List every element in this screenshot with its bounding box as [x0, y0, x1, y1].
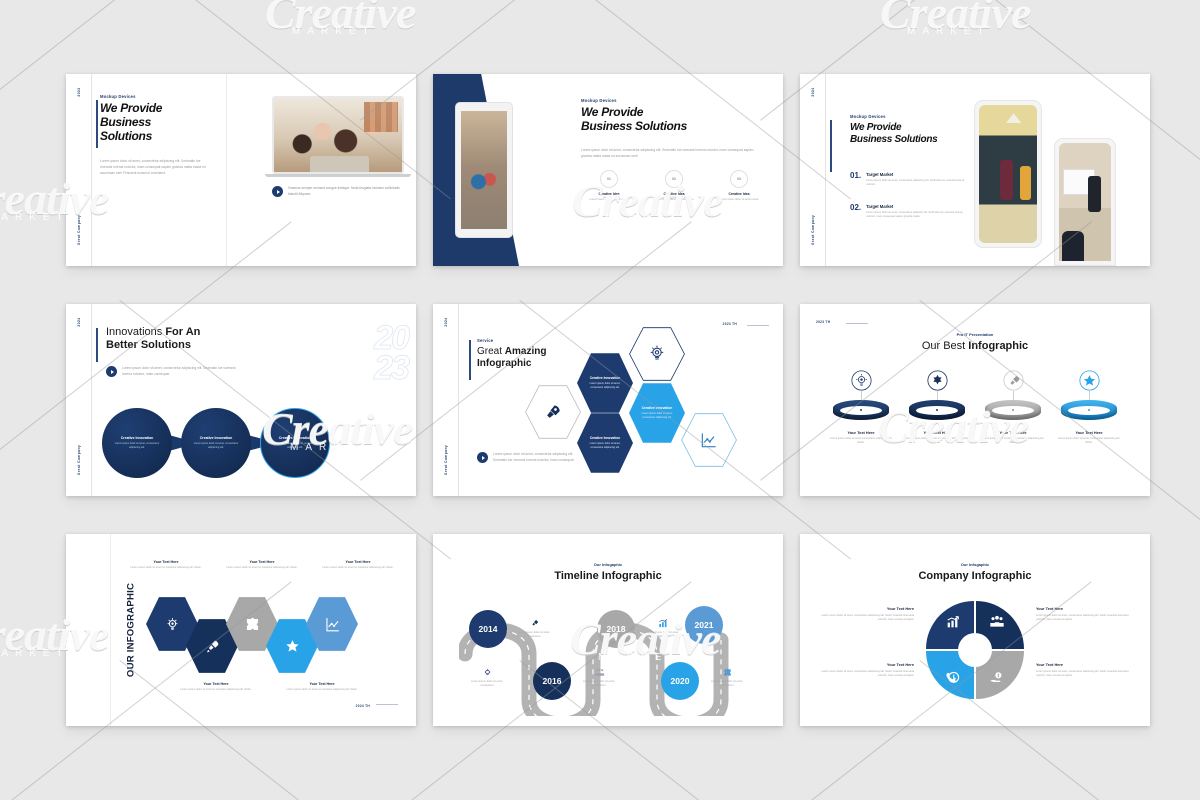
divider — [226, 74, 227, 266]
node-year: 2021 — [695, 620, 714, 630]
eyebrow: Mockup Devices — [581, 98, 617, 103]
caption-title: Your Text Here — [1036, 606, 1130, 611]
slide-2-steps: 01 Creative Idea Lorem ipsum dolor sit a… — [581, 170, 767, 202]
slide-2-body: Lorem ipsum dolor sit amet, consectetur … — [581, 148, 761, 160]
slide-3-rail: 2024 Great Company — [800, 74, 826, 266]
ring-item[interactable]: Your Text Here Lorem ipsum dolor sit ame… — [978, 370, 1048, 446]
circle-label: Creative Innovation — [121, 436, 153, 440]
step-number: 01 — [600, 170, 618, 188]
slide-thumbnail-1[interactable]: 2024 Great Company Mockup Devices We Pro… — [66, 74, 416, 266]
hex-text: Lorem ipsum dolor sit amet, consectetur … — [586, 382, 624, 390]
ring-shape — [985, 400, 1041, 420]
caption-text: Lorem ipsum dolor sit amet, consectetur … — [1036, 670, 1130, 679]
chart-icon — [323, 615, 342, 634]
caption-text: Lorem ipsum dolor sit amet, consectetur — [643, 631, 683, 640]
step-text: Lorem ipsum dolor sit amet conse — [581, 198, 637, 202]
slide-1-body: Lorem ipsum dolor sit amet, consectetur … — [100, 159, 210, 176]
circle-text: Lorem ipsum dolor sit amet, consectetur … — [268, 442, 322, 450]
timeline-node[interactable]: 2020 — [661, 662, 699, 700]
corner-line — [376, 704, 398, 705]
eyebrow: Our Infogaphic — [800, 562, 1150, 567]
title-line-3: Solutions — [100, 130, 220, 144]
slide-thumbnail-5[interactable]: 2024 Great Company 2023 TH Service Great… — [433, 304, 783, 496]
play-icon[interactable] — [477, 452, 488, 463]
rocket-icon — [203, 637, 222, 656]
caption-text: Lorem ipsum dolor sit amet co nsectetur … — [176, 688, 256, 692]
caption-title: Your Text Here — [320, 560, 396, 564]
circle-chain: Creative Innovation Lorem ipsum dolor si… — [100, 408, 390, 478]
caption-text: Lorem ipsum dolor sit amet, consectetur — [515, 631, 553, 640]
item-text: Lorem ipsum dolor sit amet, consectetur … — [866, 211, 968, 220]
people-icon — [594, 667, 605, 678]
hex-fill-bright[interactable]: Creative Innovation Lorem ipsum dolor si… — [629, 382, 685, 444]
circle-label: Creative Innovation — [279, 436, 311, 440]
ring-title: Your Text Here — [1054, 430, 1124, 435]
growth-chart-icon — [945, 614, 961, 630]
donut-hole — [958, 633, 992, 667]
hex-label: Creative Innovation — [590, 376, 621, 380]
lightbulb-icon — [647, 344, 667, 364]
accent-bar — [96, 328, 98, 362]
rail-year: 2024 — [444, 317, 448, 326]
title-line-1: We Provide — [850, 122, 937, 134]
caption-title: Your Text Here — [820, 662, 914, 667]
ghost-year-bottom: 23 — [374, 354, 408, 384]
step-item[interactable]: 02 Creative Idea Lorem ipsum dolor sit a… — [646, 170, 702, 202]
step-label: Creative Idea — [646, 192, 702, 196]
step-text: Lorem ipsum dolor sit amet conse — [711, 198, 767, 202]
step-item[interactable]: 01 Creative Idea Lorem ipsum dolor sit a… — [581, 170, 637, 202]
caption-text: Vivamus semper semsed congue tristique. … — [288, 186, 402, 198]
play-icon[interactable] — [106, 366, 117, 377]
caption-text: Lorem ipsum dolor sit amet co nsectetur … — [282, 688, 362, 692]
ring-title: Your Text Here — [902, 430, 972, 435]
slide-8-title: Timeline Infographic — [433, 570, 783, 582]
phone-mockup-large — [974, 100, 1042, 248]
eyebrow: Our Infogaphic — [433, 562, 783, 567]
timeline-caption: Lorem ipsum dolor sit amet, consectetur — [467, 667, 507, 689]
slide-thumbnail-7[interactable]: OUR INFOGRAPHIC 2024 TH Your Text Here L… — [66, 534, 416, 726]
caption-title: Your Text Here — [1036, 662, 1130, 667]
timeline-caption: Lorem ipsum dolor sit amet, consectetur — [707, 667, 747, 689]
watermark-sub: MARKET — [0, 648, 70, 659]
rail-year: 2024 — [77, 317, 81, 326]
caption-text: Lorem ipsum dolor sit amet, consectetur — [467, 680, 507, 689]
hex-cluster — [146, 596, 386, 674]
timeline-caption: Lorem ipsum dolor sit amet, consectetur — [643, 618, 683, 640]
caption-block: Your Text Here Lorem ipsum dolor sit ame… — [1036, 606, 1130, 623]
slide-4-body-row: Lorem ipsum dolor sit amet, consectetur … — [106, 366, 236, 378]
watermark-sub: MARKET — [292, 26, 376, 37]
rocket-icon — [529, 618, 540, 629]
rail-company: Great Company — [77, 445, 81, 475]
caption-title: Your Text Here — [820, 606, 914, 611]
caption-text: Lorem ipsum dolor sit amet, consectetur … — [820, 614, 914, 623]
timeline-caption: Lorem ipsum dolor sit amet, consectetur — [515, 618, 553, 640]
slide-3-eyebrow-wrap: Mockup Devices — [850, 114, 886, 119]
item-number: 02. — [850, 204, 861, 220]
phone-mockup-small — [1054, 138, 1116, 266]
circle-text: Lorem ipsum dolor sit amet, consectetur … — [109, 442, 165, 450]
caption-title: Your Text Here — [128, 560, 204, 564]
title-line-2: Business Solutions — [581, 120, 687, 134]
circle-node[interactable]: Creative Innovation Lorem ipsum dolor si… — [102, 408, 172, 478]
rocket-icon — [543, 402, 563, 422]
caption-title: Your Text Here — [176, 682, 256, 686]
corner-tag: 2023 TH — [816, 320, 830, 324]
slide-thumbnail-3[interactable]: 2024 Great Company Mockup Devices We Pro… — [800, 74, 1150, 266]
ring-row: Your Text Here Lorem ipsum dolor sit ame… — [826, 370, 1124, 446]
hex-outline-chart[interactable] — [681, 412, 737, 468]
puzzle-icon — [722, 667, 733, 678]
ring-title: Your Text Here — [826, 430, 896, 435]
caption-title: Your Text Here — [224, 560, 300, 564]
hex-text: Lorem ipsum dolor sit amet, consectetur … — [586, 442, 624, 450]
slide-5-rail: 2024 Great Company — [433, 304, 459, 496]
caption-block: Your Text Here Lorem ipsum dolor sit ame… — [1036, 662, 1130, 679]
lightbulb-icon — [851, 370, 872, 391]
accent-bar — [830, 120, 832, 172]
accent-bar — [469, 340, 471, 380]
corner-tag: 2024 TH — [356, 704, 370, 708]
watermark-sub: MARKET — [907, 26, 991, 37]
caption-block: Your Text Here Lorem ipsum dolor sit ame… — [128, 560, 204, 570]
corner-line — [846, 323, 868, 324]
watermark-sub: MARKET — [0, 212, 70, 223]
hex-outline-lightbulb[interactable] — [629, 326, 685, 382]
circle-label: Creative Innovation — [200, 436, 232, 440]
title-line-2: Better Solutions — [106, 339, 191, 351]
eyebrow: Pro IT Presentation — [800, 332, 1150, 337]
step-item[interactable]: 03 Creative Idea Lorem ipsum dolor sit a… — [711, 170, 767, 202]
money-hand-icon — [989, 670, 1005, 686]
star-icon — [1079, 370, 1100, 391]
title-line-1: We Provide — [100, 102, 220, 116]
timeline-node[interactable]: 2021 — [685, 606, 723, 644]
rail-company: Great Company — [811, 215, 815, 245]
play-icon[interactable] — [272, 186, 283, 197]
star-icon — [283, 637, 302, 656]
numbered-item: 02. Target Market Lorem ipsum dolor sit … — [850, 204, 968, 220]
slide-2-title: We Provide Business Solutions — [581, 106, 687, 134]
node-year: 2018 — [607, 624, 626, 634]
timeline-node[interactable]: 2018 — [597, 610, 635, 648]
ghost-year: 20 23 — [374, 324, 408, 384]
ring-item[interactable]: Your Text Here Lorem ipsum dolor sit ame… — [1054, 370, 1124, 446]
ring-shape — [833, 400, 889, 420]
bar-chart-icon — [657, 618, 669, 629]
numbered-item: 01. Target Market Lorem ipsum dolor sit … — [850, 172, 968, 188]
ring-title: Your Text Here — [978, 430, 1048, 435]
timeline-node[interactable]: 2014 — [469, 610, 507, 648]
item-title: Target Market — [866, 172, 968, 177]
title-bold: For An — [165, 326, 200, 338]
ring-shape — [1061, 400, 1117, 420]
caption-text: Lorem ipsum dolor sit amet, consectetur — [707, 680, 747, 689]
caption-title: Your Text Here — [282, 682, 362, 686]
eyebrow: Mockup Devices — [850, 114, 886, 119]
laptop-mockup — [272, 96, 404, 177]
body-text: Lorem ipsum dolor sit amet, consectetur … — [122, 366, 236, 378]
slide-thumbnail-2[interactable]: Mockup Devices We Provide Business Solut… — [433, 74, 783, 266]
hex-fill-navy-2[interactable]: Creative Innovation Lorem ipsum dolor si… — [577, 412, 633, 474]
step-text: Lorem ipsum dolor sit amet conse — [646, 198, 702, 202]
puzzle-icon — [927, 370, 948, 391]
slide-6-title: Our Best Infographic — [800, 340, 1150, 352]
slide-4-title: Innovations For An Better Solutions — [106, 326, 266, 352]
slide-5-title: Great Amazing Infographic — [477, 346, 577, 370]
caption-block: Your Text Here Lorem ipsum dolor sit ame… — [820, 606, 914, 623]
caption-text: Lorem ipsum dolor sit amet co nsectetur … — [320, 566, 396, 570]
item-text: Lorem ipsum dolor sit amet, consectetur … — [866, 179, 968, 188]
node-year: 2014 — [479, 624, 498, 634]
slide-thumbnail-4[interactable]: 2024 Great Company 20 23 Innovations For… — [66, 304, 416, 496]
rail-company: Great Company — [444, 445, 448, 475]
ring-text: Lorem ipsum dolor sit amet consectetur a… — [902, 437, 972, 446]
title-line-1: We Provide — [581, 106, 687, 120]
caption-text: Lorem ipsum dolor sit amet, consectetur … — [1036, 614, 1130, 623]
hex-label: Creative Innovation — [590, 436, 621, 440]
circle-node-active[interactable]: Creative Innovation Lorem ipsum dolor si… — [260, 408, 330, 478]
people-icon — [989, 614, 1005, 630]
step-label: Creative Idea — [581, 192, 637, 196]
eyebrow: Mockup Devices — [100, 94, 136, 99]
bottom-captions: Your Text Here Lorem ipsum dolor sit ame… — [176, 682, 362, 692]
ring-text: Lorem ipsum dolor sit amet consectetur a… — [1054, 437, 1124, 446]
item-number: 01. — [850, 172, 861, 188]
ring-item[interactable]: Your Text Here Lorem ipsum dolor sit ame… — [902, 370, 972, 446]
slide-5-body-row: Lorem ipsum dolor sit amet, consectetur … — [477, 452, 587, 464]
caption-block: Your Text Here Lorem ipsum dolor sit ame… — [176, 682, 256, 692]
slide-1-eyebrow-wrap: Mockup Devices — [100, 94, 136, 99]
slide-1-rail: 2024 Great Company — [66, 74, 92, 266]
rocket-icon — [1003, 370, 1024, 391]
chart-icon — [699, 430, 719, 450]
hex-fill-navy-1[interactable]: Creative Innovation Lorem ipsum dolor si… — [577, 352, 633, 414]
slide-1-caption-row: Vivamus semper semsed congue tristique. … — [272, 186, 402, 198]
hex-outline-rocket[interactable] — [525, 384, 581, 440]
title-line-2: Infographic — [477, 358, 531, 369]
step-label: Creative Idea — [711, 192, 767, 196]
clock-call-icon — [945, 670, 961, 686]
slide-thumbnail-grid: 2024 Great Company Mockup Devices We Pro… — [66, 74, 1150, 726]
node-year: 2020 — [671, 676, 690, 686]
watermark-word: Creative — [265, 0, 415, 39]
step-number: 03 — [730, 170, 748, 188]
slide-2-eyebrow-wrap: Mockup Devices — [581, 98, 617, 103]
slide-thumbnail-8[interactable]: Our Infogaphic Timeline Infographic 2014… — [433, 534, 783, 726]
ring-shape — [909, 400, 965, 420]
title-bold: Amazing — [505, 346, 547, 357]
slide-9-title: Company Infographic — [800, 570, 1150, 582]
side-title: OUR INFOGRAPHIC — [126, 583, 137, 677]
rail-year: 2024 — [77, 87, 81, 96]
top-captions: Your Text Here Lorem ipsum dolor sit ame… — [128, 560, 396, 570]
caption-block: Your Text Here Lorem ipsum dolor sit ame… — [820, 662, 914, 679]
circle-text: Lorem ipsum dolor sit amet, consectetur … — [188, 442, 244, 450]
body-text: Lorem ipsum dolor sit amet, consectetur … — [493, 452, 587, 464]
puzzle-donut — [925, 600, 1025, 700]
slide-thumbnail-6[interactable]: 2023 TH Pro IT Presentation Our Best Inf… — [800, 304, 1150, 496]
step-number: 02 — [665, 170, 683, 188]
puzzle-icon — [243, 615, 262, 634]
watermark-word: Creative — [880, 0, 1030, 39]
lightbulb-icon — [163, 615, 182, 634]
caption-block: Your Text Here Lorem ipsum dolor sit ame… — [320, 560, 396, 570]
corner-line — [747, 325, 769, 326]
title-line-2: Business — [100, 116, 220, 130]
ring-item[interactable]: Your Text Here Lorem ipsum dolor sit ame… — [826, 370, 896, 446]
ring-text: Lorem ipsum dolor sit amet consectetur a… — [826, 437, 896, 446]
slide-thumbnail-9[interactable]: Our Infogaphic Company Infographic Your … — [800, 534, 1150, 726]
corner-tag: 2023 TH — [723, 322, 737, 326]
slide-5-eyebrow-wrap: Service — [477, 338, 493, 343]
item-title: Target Market — [866, 204, 968, 209]
title-plain: Innovations — [106, 326, 165, 338]
divider — [110, 534, 111, 726]
timeline-caption: Lorem ipsum dolor sit amet, consectetur — [579, 667, 619, 689]
hex-label: Creative Innovation — [642, 406, 673, 410]
hex-text: Lorem ipsum dolor sit amet, consectetur … — [638, 412, 676, 420]
caption-text: Lorem ipsum dolor sit amet, consectetur — [579, 680, 619, 689]
lightbulb-icon — [482, 667, 493, 678]
title-line-2: Business Solutions — [850, 134, 937, 146]
caption-text: Lorem ipsum dolor sit amet co nsectetur … — [128, 566, 204, 570]
rail-company: Great Company — [77, 215, 81, 245]
ring-text: Lorem ipsum dolor sit amet consectetur a… — [978, 437, 1048, 446]
eyebrow: Service — [477, 338, 493, 343]
timeline-node[interactable]: 2016 — [533, 662, 571, 700]
node-year: 2016 — [543, 676, 562, 686]
title-plain: Our Best — [922, 340, 968, 352]
rail-year: 2024 — [811, 87, 815, 96]
circle-node[interactable]: Creative Innovation Lorem ipsum dolor si… — [181, 408, 251, 478]
caption-block: Your Text Here Lorem ipsum dolor sit ame… — [282, 682, 362, 692]
slide-4-rail: 2024 Great Company — [66, 304, 92, 496]
title-bold: Infographic — [968, 340, 1028, 352]
caption-text: Lorem ipsum dolor sit amet, consectetur … — [820, 670, 914, 679]
caption-block: Your Text Here Lorem ipsum dolor sit ame… — [224, 560, 300, 570]
accent-bar — [96, 100, 98, 148]
title-plain: Great — [477, 346, 505, 357]
tablet-mockup — [455, 102, 513, 238]
slide-3-title: We Provide Business Solutions — [850, 122, 937, 145]
caption-text: Lorem ipsum dolor sit amet co nsectetur … — [224, 566, 300, 570]
slide-1-title: We Provide Business Solutions — [100, 102, 220, 144]
